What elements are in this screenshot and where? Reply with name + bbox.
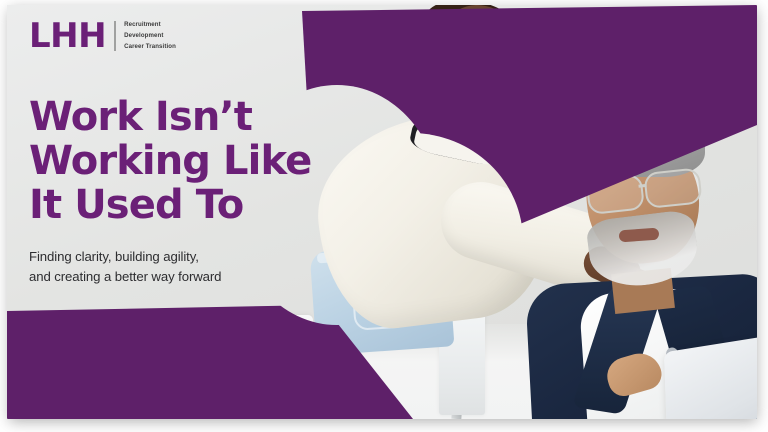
swoosh-lower-wedge — [7, 305, 413, 419]
lhh-logo[interactable]: LHH Recruitment Development Career Trans… — [29, 19, 349, 53]
slide-copy: LHH Recruitment Development Career Trans… — [29, 19, 349, 287]
headline-line-1: Work Isn’t — [29, 95, 349, 139]
slide-headline: Work Isn’t Working Like It Used To — [29, 95, 349, 227]
headline-line-3: It Used To — [29, 183, 349, 227]
subheadline-line-2: and creating a better way forward — [29, 267, 309, 287]
headline-line-2: Working Like — [29, 139, 349, 183]
logo-wordmark: LHH — [29, 19, 106, 53]
presentation-slide: LHH Recruitment Development Career Trans… — [7, 5, 757, 419]
swoosh-upper-wedge — [302, 5, 757, 308]
slide-subheadline: Finding clarity, building agility, and c… — [29, 247, 309, 287]
logo-tagline-line-2: Development — [124, 31, 176, 41]
logo-tagline-line-1: Recruitment — [124, 20, 176, 30]
logo-divider-rule — [114, 21, 116, 51]
logo-tagline: Recruitment Development Career Transitio… — [124, 20, 176, 52]
screenshot-canvas: LHH Recruitment Development Career Trans… — [0, 0, 768, 432]
subheadline-line-1: Finding clarity, building agility, — [29, 247, 309, 267]
logo-tagline-line-3: Career Transition — [124, 42, 176, 52]
